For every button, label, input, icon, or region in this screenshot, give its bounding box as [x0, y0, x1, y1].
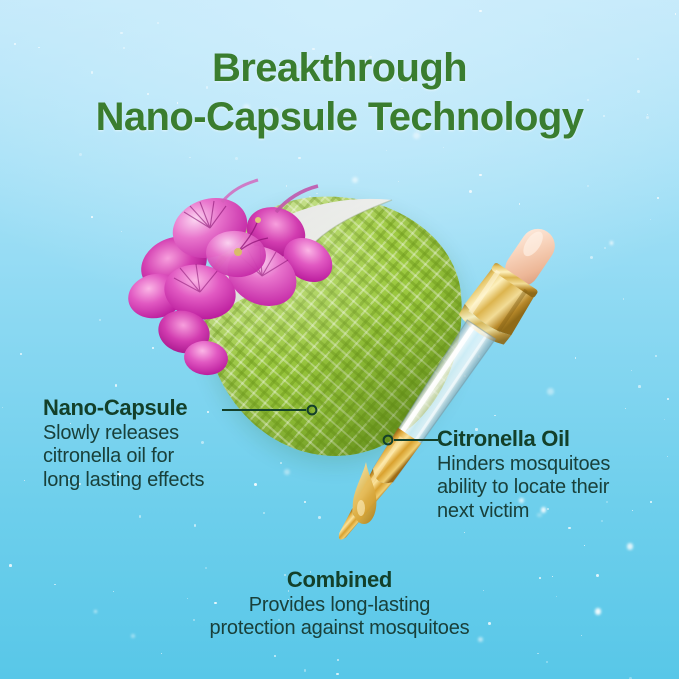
infographic-canvas: Breakthrough Nano-Capsule Technology	[0, 0, 679, 679]
callout-nano-capsule-body: Slowly releases citronella oil for long …	[43, 422, 204, 492]
callout-citronella-oil-line-2: ability to locate their	[437, 476, 610, 499]
callout-combined: Combined Provides long-lasting protectio…	[0, 568, 679, 641]
callout-combined-heading: Combined	[0, 568, 679, 591]
callout-citronella-oil-line-3: next victim	[437, 500, 610, 523]
callout-nano-capsule-line-2: citronella oil for	[43, 445, 204, 468]
callout-nano-capsule: Nano-Capsule Slowly releases citronella …	[43, 396, 204, 492]
callout-nano-capsule-heading: Nano-Capsule	[43, 396, 204, 419]
callout-citronella-oil-line-1: Hinders mosquitoes	[437, 453, 610, 476]
callout-nano-capsule-line-3: long lasting effects	[43, 469, 204, 492]
callout-nano-capsule-line-1: Slowly releases	[43, 422, 204, 445]
nano-capsule-graphic	[196, 187, 472, 464]
callout-combined-line-2: protection against mosquitoes	[0, 617, 679, 640]
callout-combined-body: Provides long-lasting protection against…	[0, 594, 679, 641]
callout-citronella-oil: Citronella Oil Hinders mosquitoes abilit…	[437, 427, 610, 523]
callout-combined-line-1: Provides long-lasting	[0, 594, 679, 617]
callout-citronella-oil-heading: Citronella Oil	[437, 427, 610, 450]
callout-citronella-oil-body: Hinders mosquitoes ability to locate the…	[437, 453, 610, 523]
